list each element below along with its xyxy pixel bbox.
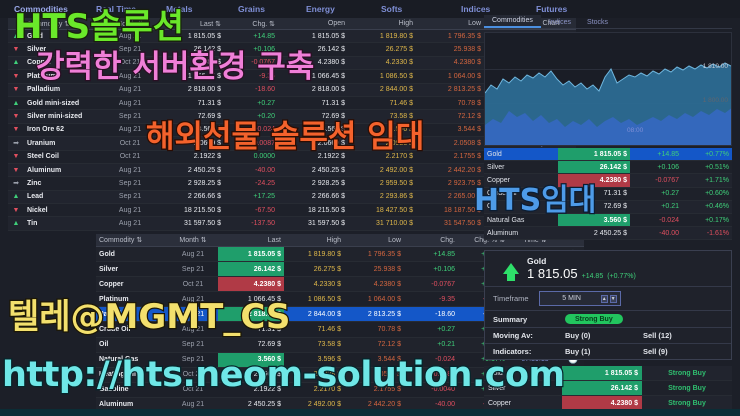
th-last[interactable]: Last — [218, 234, 284, 247]
detail-instrument-name: Gold — [527, 256, 636, 266]
nav-tab-futures[interactable]: Futures — [530, 4, 573, 14]
cell-commodity: Copper — [96, 277, 168, 292]
cell-change: +17.25 — [224, 190, 278, 203]
cell-high: 1 086.50 $ — [284, 292, 344, 307]
cell-month: Aug 21 — [106, 204, 154, 217]
cell-high: 26.275 $ — [284, 262, 344, 277]
cell-commodity: Iron Ore 62 — [24, 123, 106, 136]
row-direction-icon: ➡ — [8, 137, 24, 150]
cell-high: 2 844.00 $ — [348, 83, 416, 96]
cell-open: 2 266.66 $ — [278, 190, 348, 203]
quote-last: 2 450.25 $ — [558, 227, 630, 240]
cell-low: 2 813.25 $ — [344, 307, 404, 322]
cell-low: 1 796.35 $ — [416, 30, 484, 43]
chart-x-label: 08:00 — [627, 127, 643, 134]
cell-low: 1 796.35 $ — [344, 247, 404, 262]
quote-change-pct: +0.17% — [682, 213, 732, 226]
summary-row: Summary Strong Buy — [485, 310, 731, 327]
nav-tab-grains[interactable]: Grains — [232, 4, 271, 14]
quote-change-pct: +0.60% — [682, 187, 732, 200]
cell-open: 2 818.00 $ — [278, 83, 348, 96]
cell-change: -18.60 — [224, 83, 278, 96]
cell-low: 1 064.00 $ — [344, 292, 404, 307]
cell-change: +0.27 — [224, 96, 278, 109]
row-direction-icon: ▲ — [8, 56, 24, 69]
timeframe-select[interactable]: 5 MIN ▲ ▼ — [539, 291, 621, 306]
cell-change: +0.27 — [404, 322, 458, 337]
reco-signal: Strong Buy — [642, 381, 732, 396]
right-tab-indices[interactable]: Indices — [541, 17, 579, 28]
cell-last: 2 928.25 $ — [154, 177, 224, 190]
cell-high: 1 819.80 $ — [348, 30, 416, 43]
quote-change-pct: +0.77% — [682, 148, 732, 161]
quote-name: Silver — [484, 161, 558, 174]
cell-low: 72.12 $ — [344, 337, 404, 352]
price-chart[interactable]: 1 810.00 1 800.00 08:00 — [484, 32, 732, 146]
reco-signal: Strong Buy — [642, 366, 732, 381]
quote-change-pct: -1.61% — [682, 227, 732, 240]
cell-commodity: Aluminum — [24, 163, 106, 176]
cell-month: Sep 21 — [168, 337, 218, 352]
cell-commodity: Palladium — [24, 83, 106, 96]
cell-last: 26.142 $ — [218, 262, 284, 277]
cell-high: 73.58 $ — [284, 337, 344, 352]
overlay-headline-1: HTS솔루션 — [14, 10, 184, 44]
cell-high: 1 086.50 $ — [348, 70, 416, 83]
cell-change: -137.50 — [224, 217, 278, 230]
cell-change: +0.21 — [404, 337, 458, 352]
quote-change-pct: +0.46% — [682, 200, 732, 213]
cell-commodity: Silver mini-sized — [24, 110, 106, 123]
cell-commodity: Lead — [24, 190, 106, 203]
quote-change-pct: +1.71% — [682, 174, 732, 187]
cell-high: 2 959.50 $ — [348, 177, 416, 190]
cell-commodity: Tin — [24, 217, 106, 230]
timeframe-value: 5 MIN — [543, 295, 601, 302]
cell-change: -40.00 — [224, 163, 278, 176]
cell-change: -9.35 — [404, 292, 458, 307]
row-direction-icon: ▼ — [8, 150, 24, 163]
cell-commodity: Zinc — [24, 177, 106, 190]
row-direction-icon: ▲ — [8, 190, 24, 203]
cell-low: 25.938 $ — [416, 43, 484, 56]
th-high[interactable]: High — [348, 18, 416, 30]
overlay-contact-telegram: 텔레@MGMT_CS — [8, 300, 290, 334]
quote-change: +14.85 — [630, 148, 682, 161]
moving-av-buy: Buy (0) — [565, 331, 643, 340]
th-month[interactable]: Month ⇅ — [168, 234, 218, 247]
cell-low: 2.0508 $ — [416, 137, 484, 150]
cell-high: 2 844.00 $ — [284, 307, 344, 322]
th-chg[interactable]: Chg. — [404, 234, 458, 247]
cell-high: 71.46 $ — [284, 322, 344, 337]
cell-low: 70.78 $ — [416, 96, 484, 109]
app-window: CommoditiesReal TimeMetalsGrainsEnergySo… — [0, 0, 740, 416]
cell-commodity: Silver — [96, 262, 168, 277]
cell-change: +14.85 — [404, 247, 458, 262]
th-low[interactable]: Low — [416, 18, 484, 30]
cell-low: 4.2380 $ — [416, 56, 484, 69]
cell-commodity: Steel Coil — [24, 150, 106, 163]
cell-commodity: Gold — [96, 247, 168, 262]
quote-change: +0.27 — [630, 187, 682, 200]
quote-row[interactable]: Silver26.142 $+0.106+0.51% — [484, 161, 732, 174]
row-direction-icon: ▼ — [8, 110, 24, 123]
quote-change-pct: +0.51% — [682, 161, 732, 174]
cell-high: 18 427.50 $ — [348, 204, 416, 217]
cell-open: 2 450.25 $ — [278, 163, 348, 176]
cell-low: 72.12 $ — [416, 110, 484, 123]
cell-open: 31 597.50 $ — [278, 217, 348, 230]
timeframe-label: Timeframe — [493, 294, 529, 303]
cell-low: 1 064.00 $ — [416, 70, 484, 83]
moving-av-label: Moving Av: — [493, 331, 565, 340]
cell-last: 2 450.25 $ — [154, 163, 224, 176]
moving-av-sell: Sell (12) — [643, 331, 721, 340]
quote-last: 1 815.05 $ — [558, 148, 630, 161]
row-direction-icon: ▲ — [8, 217, 24, 230]
row-direction-icon: ▲ — [8, 96, 24, 109]
cell-last: 31 597.50 $ — [154, 217, 224, 230]
quote-row[interactable]: Gold1 815.05 $+14.85+0.77% — [484, 148, 732, 161]
cell-last: 2 818.00 $ — [154, 83, 224, 96]
quote-last: 26.142 $ — [558, 161, 630, 174]
cell-high: 26.275 $ — [348, 43, 416, 56]
cell-high: 4.2330 $ — [348, 56, 416, 69]
row-direction-icon: ➡ — [8, 177, 24, 190]
cell-low: 25.938 $ — [344, 262, 404, 277]
row-direction-icon: ▼ — [8, 70, 24, 83]
cell-month: Aug 21 — [106, 83, 154, 96]
cell-open: 71.31 $ — [278, 96, 348, 109]
th-chg[interactable]: Chg. ⇅ — [224, 18, 278, 30]
quote-change: +0.21 — [630, 200, 682, 213]
cell-last: 1 815.05 $ — [218, 247, 284, 262]
moving-average-row: Moving Av: Buy (0) Sell (12) — [485, 327, 731, 343]
reco-last: 1 815.05 $ — [562, 366, 642, 381]
cell-last: 72.69 $ — [218, 337, 284, 352]
nav-tab-softs[interactable]: Softs — [375, 4, 408, 14]
th-low[interactable]: Low — [344, 234, 404, 247]
overlay-website-url: http://hts.neom-solution.com — [2, 358, 565, 393]
chart-area-series — [485, 33, 732, 145]
cell-high: 2 293.86 $ — [348, 190, 416, 203]
spinner-icon[interactable]: ▲ ▼ — [601, 295, 617, 302]
cell-open: 1 815.05 $ — [278, 30, 348, 43]
quote-row[interactable]: Aluminum2 450.25 $-40.00-1.61% — [484, 227, 732, 240]
cell-commodity: Uranium — [24, 137, 106, 150]
detail-header: Gold 1 815.05 +14.85 (+0.77%) — [485, 251, 731, 286]
quote-change: -0.024 — [630, 213, 682, 226]
cell-change: +14.85 — [224, 30, 278, 43]
cell-month: Aug 21 — [106, 163, 154, 176]
indicators-buy: Buy (1) — [565, 347, 643, 356]
cell-last: 4.2380 $ — [218, 277, 284, 292]
cell-month: Aug 21 — [106, 217, 154, 230]
quote-change: -40.00 — [630, 227, 682, 240]
nav-tab-indices[interactable]: Indices — [455, 4, 496, 14]
cell-high: 71.46 $ — [348, 96, 416, 109]
cell-low: 2.1755 $ — [416, 150, 484, 163]
cell-low: 31 547.50 $ — [416, 217, 484, 230]
chart-y-label-lower: 1 800.00 — [703, 97, 728, 104]
cell-month: Sep 21 — [106, 190, 154, 203]
cell-open: 2 928.25 $ — [278, 177, 348, 190]
cell-open: 18 215.50 $ — [278, 204, 348, 217]
cell-month: Sep 21 — [106, 177, 154, 190]
cell-commodity: Oil — [96, 337, 168, 352]
status-badge: Strong Buy — [565, 314, 623, 324]
right-panel-tabs: CommoditiesIndicesStocks — [484, 14, 732, 29]
cell-low: 4.2380 $ — [344, 277, 404, 292]
timeframe-row: Timeframe 5 MIN ▲ ▼ — [485, 286, 731, 310]
row-direction-icon: ▼ — [8, 123, 24, 136]
right-tab-commodities[interactable]: Commodities — [484, 15, 541, 28]
cell-change: -24.25 — [224, 177, 278, 190]
quote-change: +0.106 — [630, 161, 682, 174]
quote-name: Gold — [484, 148, 558, 161]
cell-high: 1 819.80 $ — [284, 247, 344, 262]
cell-month: Aug 21 — [168, 247, 218, 262]
cell-month: Aug 21 — [106, 96, 154, 109]
cell-low: 2 813.25 $ — [416, 83, 484, 96]
cell-change: +0.106 — [404, 262, 458, 277]
detail-price: 1 815.05 — [527, 266, 578, 281]
cell-last: 71.31 $ — [154, 96, 224, 109]
cell-change: -67.50 — [224, 204, 278, 217]
cell-month: Oct 21 — [168, 277, 218, 292]
cell-last: 18 215.50 $ — [154, 204, 224, 217]
row-direction-icon: ▼ — [8, 204, 24, 217]
chart-y-label-upper: 1 810.00 — [703, 63, 728, 70]
bottom-accent-bar — [0, 409, 740, 416]
overlay-headline-4: HTS임대 — [474, 186, 596, 216]
reco-last: 26.142 $ — [562, 381, 642, 396]
cell-high: 2 492.00 $ — [348, 163, 416, 176]
indicators-sell: Sell (9) — [643, 347, 721, 356]
cell-high: 31 710.00 $ — [348, 217, 416, 230]
right-tab-stocks[interactable]: Stocks — [579, 17, 616, 28]
overlay-headline-3: 해외선물 솔루션 임대 — [146, 122, 424, 153]
cell-low: 70.78 $ — [344, 322, 404, 337]
quote-change: -0.0767 — [630, 174, 682, 187]
cell-low: 3.544 $ — [416, 123, 484, 136]
row-direction-icon: ▼ — [8, 163, 24, 176]
summary-label: Summary — [493, 315, 565, 324]
overlay-headline-2: 강력한 서버환경 구축 — [36, 52, 314, 83]
cell-change: -18.60 — [404, 307, 458, 322]
up-arrow-icon — [503, 263, 519, 274]
cell-month: Sep 21 — [168, 262, 218, 277]
detail-change-pct: (+0.77%) — [607, 273, 636, 280]
th-open[interactable]: Open — [278, 18, 348, 30]
row-direction-icon: ▼ — [8, 83, 24, 96]
th-commodity[interactable]: Commodity ⇅ — [96, 234, 168, 247]
instrument-detail-card: Gold 1 815.05 +14.85 (+0.77%) Timeframe … — [484, 250, 732, 360]
chevron-down-icon[interactable]: ▼ — [610, 295, 617, 303]
cell-last: 2 266.66 $ — [154, 190, 224, 203]
cell-commodity: Gold mini-sized — [24, 96, 106, 109]
nav-tab-energy[interactable]: Energy — [300, 4, 341, 14]
cell-change: -0.0767 — [404, 277, 458, 292]
cell-commodity: Nickel — [24, 204, 106, 217]
th-high[interactable]: High — [284, 234, 344, 247]
quote-name: Aluminum — [484, 227, 558, 240]
detail-change: +14.85 — [582, 273, 604, 280]
cell-high: 4.2330 $ — [284, 277, 344, 292]
cell-low: 2 442.20 $ — [416, 163, 484, 176]
chevron-up-icon[interactable]: ▲ — [601, 295, 608, 303]
